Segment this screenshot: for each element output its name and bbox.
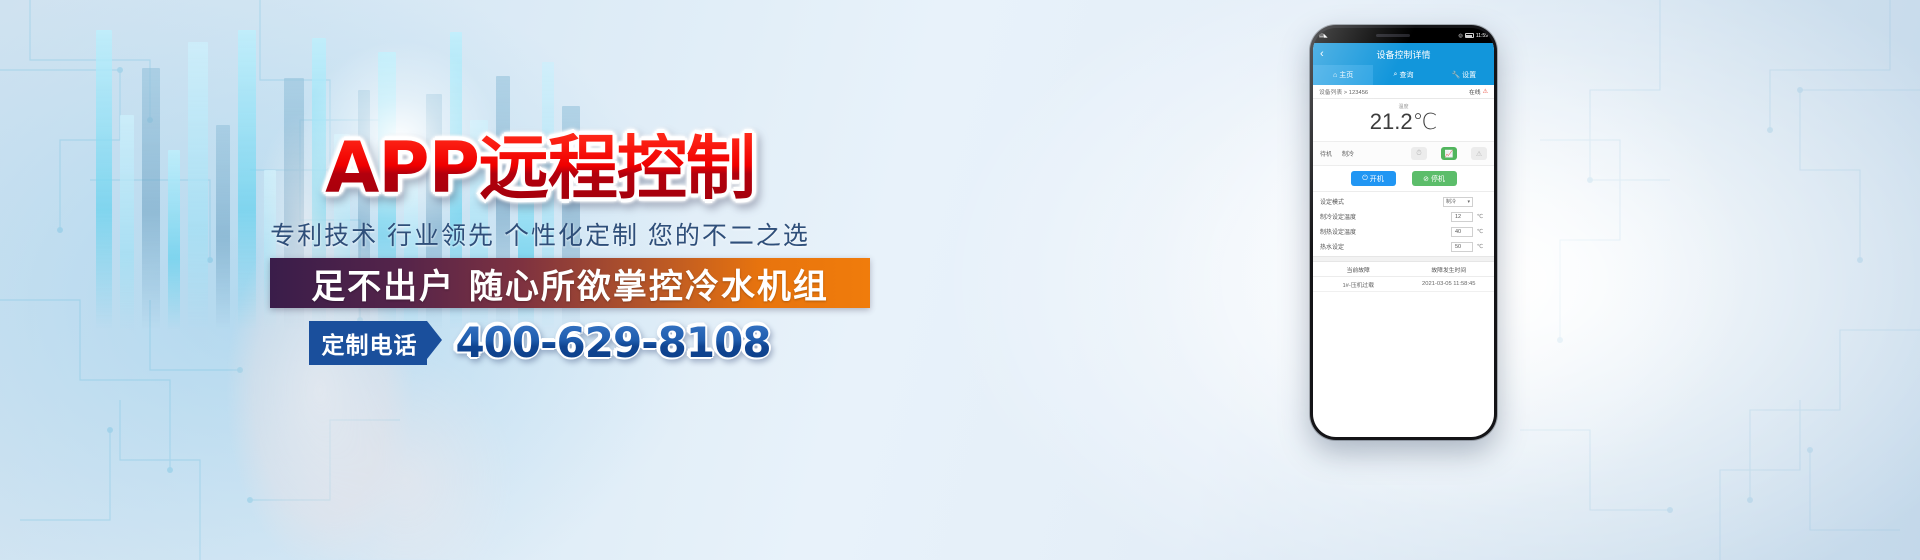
app-screen: ‹ 设备控制详情 ⌂ 主页 ⌕ 查询 🔧 设置 [1313, 43, 1494, 437]
tab-settings-label: 设置 [1462, 70, 1476, 80]
phone-mockup: ▤◣ ◎ 11:59 ‹ 设备控制详情 ⌂ 主页 [1310, 25, 1497, 440]
status-badge-label: 在线 [1469, 87, 1481, 96]
mode-status-row: 待机 制冷 ⏱ 📈 ⚠ [1313, 142, 1494, 166]
settings-list: 设定模式 制冷 ▾ 制冷设定温度 12 ℃ 制热设定温度 [1313, 192, 1494, 256]
device-mode-label: 制冷 [1342, 149, 1354, 158]
earpiece-speaker [1376, 34, 1410, 37]
app-navbar: ‹ 设备控制详情 [1313, 43, 1494, 65]
setting-unit-hot-water: ℃ [1473, 244, 1487, 250]
fault-time: 2021-03-05 11:58:45 [1404, 281, 1495, 287]
home-icon: ⌂ [1333, 72, 1337, 79]
breadcrumb[interactable]: 设备列表 > 123456 [1319, 87, 1368, 96]
setting-row-cool-temp: 制冷设定温度 12 ℃ [1313, 209, 1494, 224]
hero-subtitle: 专利技术 行业领先 个性化定制 您的不二之选 [0, 216, 1080, 252]
breadcrumb-bar: 设备列表 > 123456 在线 ⚠ [1313, 85, 1494, 99]
wrench-icon: 🔧 [1451, 71, 1460, 79]
hot-water-input[interactable]: 50 [1451, 242, 1473, 252]
hotline-number[interactable]: 400-629-8108 [455, 318, 770, 367]
power-controls: ⏻ 开机 ⊘ 停机 [1313, 166, 1494, 192]
chevron-down-icon: ▾ [1467, 199, 1470, 205]
setting-row-mode: 设定模式 制冷 ▾ [1313, 194, 1494, 209]
battery-icon [1465, 33, 1474, 38]
tab-settings[interactable]: 🔧 设置 [1434, 65, 1494, 85]
power-off-label: 停机 [1431, 174, 1445, 184]
app-title: 设备控制详情 [1313, 48, 1494, 61]
tab-query-label: 查询 [1399, 70, 1413, 80]
mode-select-value: 制冷 [1446, 198, 1456, 205]
fault-col-time: 故障发生时间 [1404, 265, 1495, 274]
page-title: APP远程控制 [0, 133, 1080, 203]
hotline-block: 定制电话 400-629-8108 [0, 318, 1080, 367]
banner-stage: APP远程控制 专利技术 行业领先 个性化定制 您的不二之选 足不出户 随心所欲… [0, 0, 1920, 560]
warning-triangle-icon: ⚠ [1483, 88, 1488, 95]
cool-temp-input[interactable]: 12 [1451, 212, 1473, 222]
setting-label-mode: 设定模式 [1320, 197, 1443, 206]
tab-home[interactable]: ⌂ 主页 [1313, 65, 1373, 85]
setting-unit-cool-temp: ℃ [1473, 214, 1487, 220]
fault-table-header: 当前故障 故障发生时间 [1313, 262, 1494, 277]
temperature-value: 21.2℃ [1313, 110, 1494, 134]
app-tabbar: ⌂ 主页 ⌕ 查询 🔧 设置 [1313, 65, 1494, 85]
phone-status-bar: ▤◣ ◎ 11:59 [1313, 28, 1494, 43]
back-chevron-icon[interactable]: ‹ [1320, 49, 1324, 60]
tab-query[interactable]: ⌕ 查询 [1373, 65, 1433, 85]
temperature-display: 温度 21.2℃ [1313, 99, 1494, 142]
chart-icon[interactable]: 📈 [1441, 147, 1457, 160]
hero-ribbon-banner: 足不出户 随心所欲掌控冷水机组 [270, 258, 870, 308]
tab-home-label: 主页 [1339, 70, 1353, 80]
setting-label-hot-water: 热水设定 [1320, 242, 1451, 251]
setting-row-hot-water: 热水设定 50 ℃ [1313, 239, 1494, 254]
power-off-button[interactable]: ⊘ 停机 [1412, 171, 1457, 186]
power-icon: ⏻ [1362, 175, 1368, 183]
heat-temp-input[interactable]: 40 [1451, 227, 1473, 237]
sim-card-icon: ▤◣ [1319, 33, 1328, 39]
status-bar-time: 11:59 [1476, 33, 1488, 39]
power-on-button[interactable]: ⏻ 开机 [1351, 171, 1396, 186]
status-badge: 在线 ⚠ [1469, 87, 1488, 96]
phone-shell: ▤◣ ◎ 11:59 ‹ 设备控制详情 ⌂ 主页 [1313, 28, 1494, 437]
stop-icon: ⊘ [1423, 175, 1429, 183]
power-on-label: 开机 [1370, 174, 1384, 184]
location-icon: ◎ [1458, 33, 1462, 39]
table-row[interactable]: 1#-压机过载 2021-03-05 11:58:45 [1313, 277, 1494, 292]
hero-copy: APP远程控制 专利技术 行业领先 个性化定制 您的不二之选 足不出户 随心所欲… [0, 0, 1080, 560]
search-icon: ⌕ [1394, 71, 1398, 79]
alarm-icon[interactable]: ⚠ [1471, 147, 1487, 160]
fault-name: 1#-压机过载 [1313, 280, 1404, 289]
timer-icon[interactable]: ⏱ [1411, 147, 1427, 160]
setting-label-cool-temp: 制冷设定温度 [1320, 212, 1451, 221]
fault-col-name: 当前故障 [1313, 265, 1404, 274]
hero-ribbon-text: 足不出户 随心所欲掌控冷水机组 [311, 259, 829, 308]
setting-label-heat-temp: 制热设定温度 [1320, 227, 1451, 236]
mode-select[interactable]: 制冷 ▾ [1443, 197, 1473, 207]
device-state-label: 待机 [1320, 149, 1332, 158]
setting-row-heat-temp: 制热设定温度 40 ℃ [1313, 224, 1494, 239]
hotline-label-tag: 定制电话 [309, 321, 427, 365]
setting-unit-heat-temp: ℃ [1473, 229, 1487, 235]
